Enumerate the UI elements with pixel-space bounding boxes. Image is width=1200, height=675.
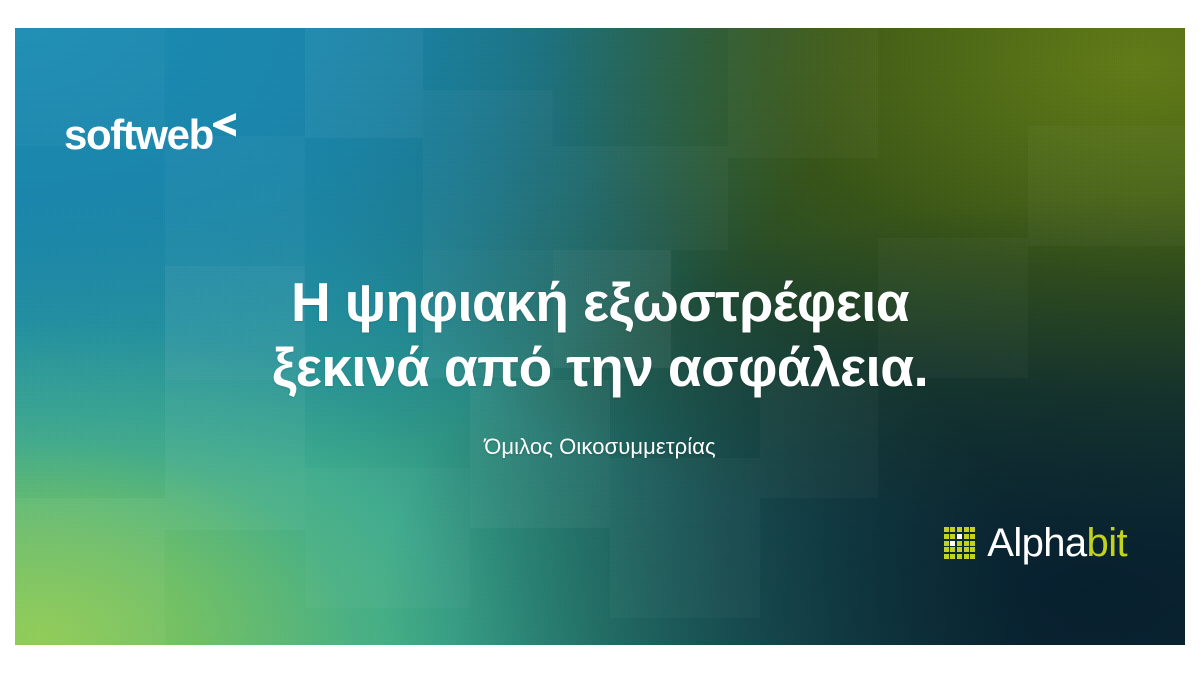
pixel-grid-icon xyxy=(944,527,975,558)
headline-block: Η ψηφιακή εξωστρέφεια ξεκινά από την ασφ… xyxy=(15,270,1185,460)
alphabit-word-bit: bit xyxy=(1087,521,1127,565)
softweb-logo[interactable]: softweb xyxy=(64,114,237,156)
alphabit-wordmark: Alphabit xyxy=(987,523,1127,563)
chevron-left-icon xyxy=(211,113,237,139)
slide-root: softweb Η ψηφιακή εξωστρέφεια ξεκινά από… xyxy=(0,0,1200,675)
headline-line-2: ξεκινά από την ασφάλεια. xyxy=(75,335,1125,400)
alphabit-logo[interactable]: Alphabit xyxy=(944,523,1127,563)
softweb-wordmark: softweb xyxy=(64,114,213,156)
slide-canvas: softweb Η ψηφιακή εξωστρέφεια ξεκινά από… xyxy=(15,28,1185,645)
alphabit-word-alpha: Alpha xyxy=(987,521,1086,565)
subtitle: Όμιλος Οικοσυμμετρίας xyxy=(75,434,1125,460)
headline-line-1: Η ψηφιακή εξωστρέφεια xyxy=(75,270,1125,335)
